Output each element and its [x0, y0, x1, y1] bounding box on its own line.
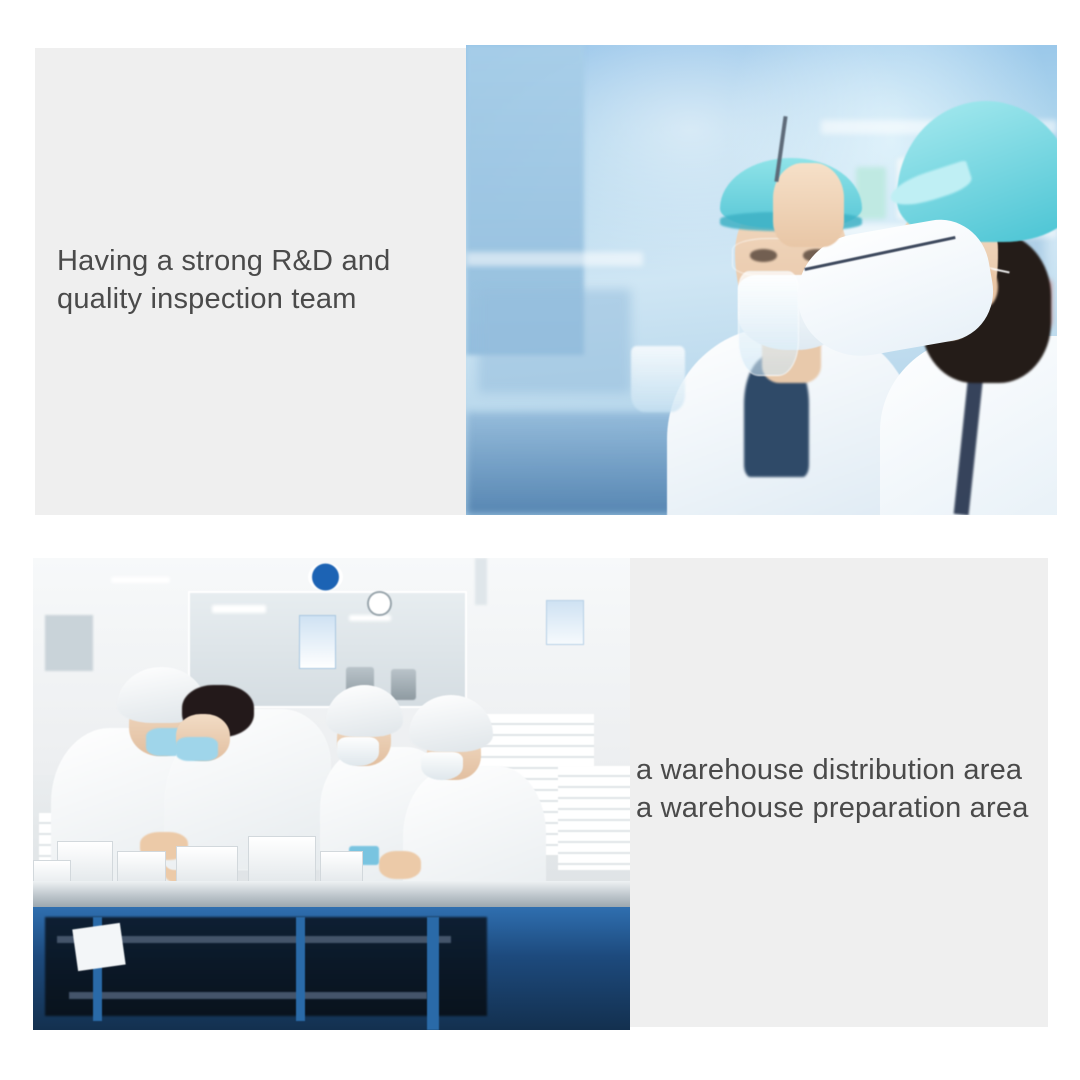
table-leg-3 [427, 917, 439, 1030]
lab-cabinet-left [478, 289, 632, 392]
lab-beaker [631, 346, 684, 412]
stainless-table-top [33, 881, 630, 909]
paper-sheet [72, 923, 125, 972]
product-showcase-page: Having a strong R&D and quality inspecti… [0, 0, 1080, 1080]
table-leg-2 [296, 917, 306, 1021]
packer-3-facemask [337, 737, 379, 765]
carton-on-table-4 [248, 836, 316, 885]
rnd-caption: Having a strong R&D and quality inspecti… [57, 243, 457, 318]
metal-canister-2 [391, 669, 416, 700]
rnd-lab-photo [466, 45, 1057, 515]
wall-notice-board-2 [546, 600, 584, 644]
packer-2-facemask [176, 737, 218, 761]
lab-hand [773, 163, 844, 248]
warehouse-packing-photo [33, 558, 630, 1030]
ceiling-lamp-1 [212, 605, 266, 613]
wall-notice-board [299, 615, 337, 669]
table-rail-lower [69, 992, 427, 999]
blue-circular-sign [308, 563, 344, 591]
carton-stack-right-low [558, 766, 630, 870]
cleanroom-side-window [45, 615, 93, 672]
ceiling-duct [475, 558, 487, 605]
ceiling-lamp-3 [111, 577, 171, 584]
carton-on-table-3 [176, 846, 238, 886]
packer-4-facemask [421, 752, 463, 780]
wall-clock [367, 591, 391, 616]
lab-flask [738, 271, 799, 376]
lab-shelf-left [466, 252, 643, 266]
ceiling-lamp-2 [349, 615, 391, 622]
packer-4-hand [379, 851, 421, 879]
warehouse-caption: a warehouse distribution area a warehous… [636, 752, 1056, 827]
